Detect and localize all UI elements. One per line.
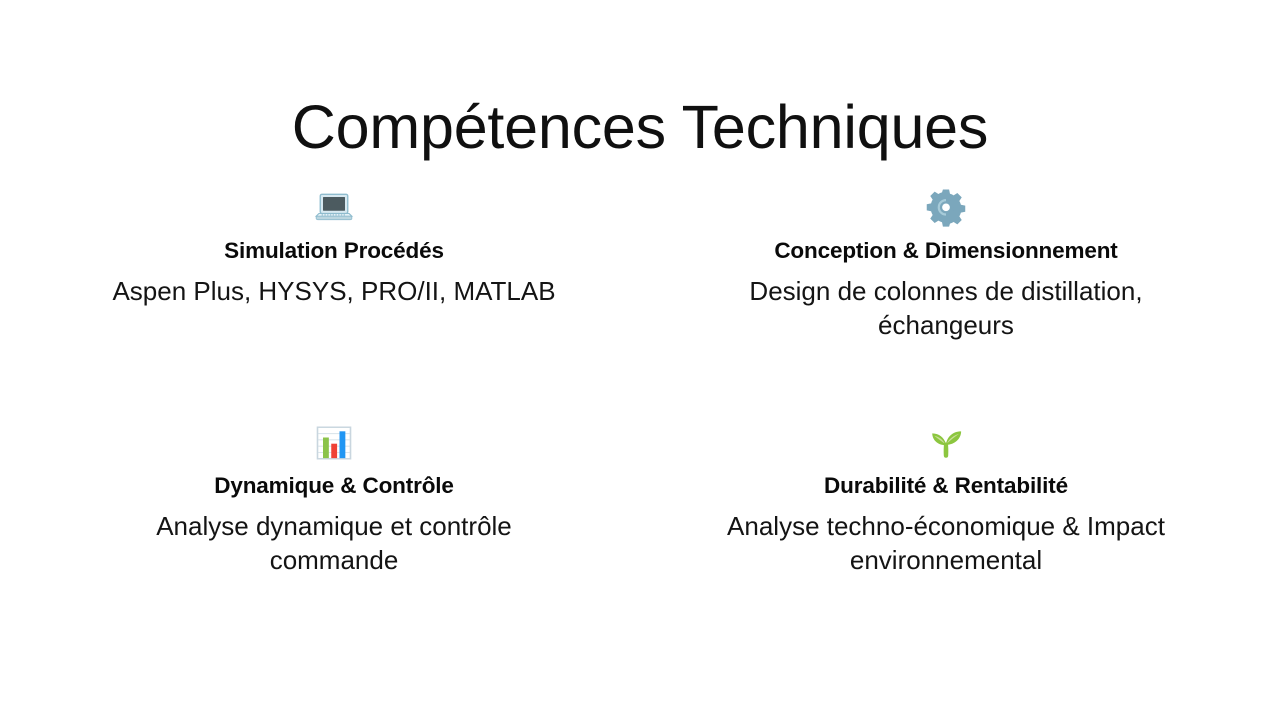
skill-card-body: Design de colonnes de distillation, écha…: [706, 275, 1186, 342]
laptop-icon: [312, 186, 356, 230]
skill-card-conception: Conception & Dimensionnement Design de c…: [652, 186, 1240, 421]
skill-card-body: Aspen Plus, HYSYS, PRO/II, MATLAB: [112, 275, 555, 308]
skill-card-heading: Conception & Dimensionnement: [774, 236, 1117, 265]
seedling-icon: [924, 421, 968, 465]
skill-card-body: Analyse dynamique et contrôle commande: [94, 510, 574, 577]
skill-card-dynamique: Dynamique & Contrôle Analyse dynamique e…: [40, 421, 628, 656]
skill-card-durabilite: Durabilité & Rentabilité Analyse techno-…: [652, 421, 1240, 656]
gear-icon: [924, 186, 968, 230]
skill-card-heading: Durabilité & Rentabilité: [824, 471, 1068, 500]
bar-chart-icon: [312, 421, 356, 465]
page-title: Compétences Techniques: [0, 93, 1280, 161]
slide-root: Compétences Techniques: [0, 0, 1280, 720]
skills-grid: Simulation Procédés Aspen Plus, HYSYS, P…: [40, 186, 1240, 656]
skill-card-heading: Simulation Procédés: [224, 236, 444, 265]
skill-card-body: Analyse techno-économique & Impact envir…: [706, 510, 1186, 577]
skill-card-simulation: Simulation Procédés Aspen Plus, HYSYS, P…: [40, 186, 628, 421]
skill-card-heading: Dynamique & Contrôle: [214, 471, 454, 500]
